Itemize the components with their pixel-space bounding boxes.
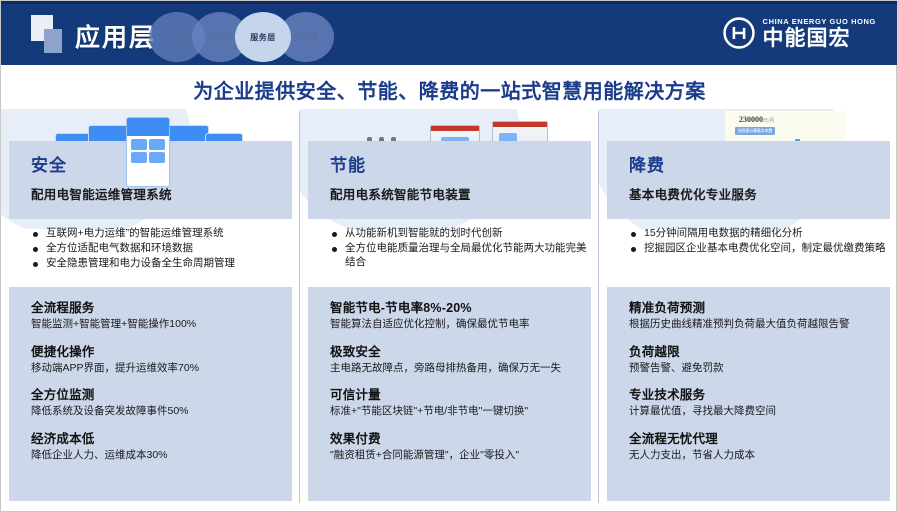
- feature-title: 负荷越限: [629, 341, 878, 360]
- column-header-band: 降费 基本电费优化专业服务: [607, 141, 890, 219]
- layer-ellipse-service-active[interactable]: 服务层: [235, 12, 291, 62]
- feature-desc: 智能算法自适应优化控制，确保最优节电率: [330, 318, 579, 332]
- feature-desc: 降低企业人力、运维成本30%: [31, 449, 280, 463]
- presentation-slide: 应用层 采集层 分析层 服务层 交易层 CHINA ENERGY GUO HO: [0, 0, 897, 512]
- list-item: 安全隐患管理和电力设备全生命周期管理: [33, 257, 292, 271]
- list-item: 15分钟间隔用电数据的精细化分析: [631, 227, 890, 241]
- feature-title: 全流程无忧代理: [629, 428, 878, 447]
- feature-item: 经济成本低 降低企业人力、运维成本30%: [31, 428, 280, 463]
- feature-desc: 标准+"节能区块链"+节电/非节电"一键切换": [330, 405, 579, 419]
- feature-desc: 无人力支出，节省人力成本: [629, 449, 878, 463]
- column-bullet-list: 15分钟间隔用电数据的精细化分析 挖掘园区企业基本电费优化空间，制定最优缴费策略: [607, 227, 890, 257]
- feature-item: 精准负荷预测 根据历史曲线精准预判负荷最大值负荷越限告警: [629, 297, 878, 332]
- column-feature-block: 精准负荷预测 根据历史曲线精准预判负荷最大值负荷越限告警 负荷越限 预警告警、避…: [607, 287, 890, 501]
- pk-top-badge: 按容量计算基本电费: [735, 127, 775, 135]
- company-mark-icon: [722, 16, 756, 50]
- feature-item: 全方位监测 降低系统及设备突发故障事件50%: [31, 384, 280, 419]
- feature-title: 可信计量: [330, 384, 579, 403]
- list-item: 挖掘园区企业基本电费优化空间，制定最优缴费策略: [631, 242, 890, 256]
- column-subtitle: 配用电系统智能节电装置: [330, 184, 591, 203]
- pk-top-value: 230000: [739, 115, 763, 124]
- feature-item: 可信计量 标准+"节能区块链"+节电/非节电"一键切换": [330, 384, 579, 419]
- feature-title: 全流程服务: [31, 297, 280, 316]
- feature-desc: 移动端APP界面，提升运维效率70%: [31, 362, 280, 376]
- feature-title: 效果付费: [330, 428, 579, 447]
- column-header-band: 节能 配用电系统智能节电装置: [308, 141, 591, 219]
- feature-title: 专业技术服务: [629, 384, 878, 403]
- company-logo: CHINA ENERGY GUO HONG 中能国宏: [722, 14, 876, 52]
- feature-desc: 预警告警、避免罚款: [629, 362, 878, 376]
- list-item: 全方位电能质量治理与全局最优化节能两大功能完美结合: [332, 242, 591, 270]
- column-bullet-list: 互联网+电力运维”的智能运维管理系统 全方位适配电气数据和环境数据 安全隐患管理…: [9, 227, 292, 272]
- column-energy-saving: 节能 配用电系统智能节电装置 从功能新机到智能就的划时代创新 全方位电能质量治理…: [300, 109, 599, 509]
- decorative-squares-icon: [31, 15, 67, 55]
- layer-label: 交易层: [293, 32, 319, 43]
- column-title: 降费: [629, 151, 890, 176]
- brand-chinese-name: 中能国宏: [763, 28, 876, 49]
- slide-header: 应用层 采集层 分析层 服务层 交易层 CHINA ENERGY GUO HO: [1, 1, 897, 65]
- column-cost-reduction: 230000元/月 按容量计算基本电费 PK 70000元/月 160000元/…: [599, 109, 897, 509]
- column-security: 安全 配用电智能运维管理系统 互联网+电力运维”的智能运维管理系统 全方位适配电…: [1, 109, 300, 509]
- feature-item: 智能节电-节电率8%-20% 智能算法自适应优化控制，确保最优节电率: [330, 297, 579, 332]
- column-feature-block: 智能节电-节电率8%-20% 智能算法自适应优化控制，确保最优节电率 极致安全 …: [308, 287, 591, 501]
- feature-title: 智能节电-节电率8%-20%: [330, 297, 579, 316]
- feature-item: 效果付费 "融资租赁+合同能源管理"，企业"零投入": [330, 428, 579, 463]
- pk-top-unit: 元/月: [763, 119, 774, 124]
- list-item: 全方位适配电气数据和环境数据: [33, 242, 292, 256]
- header-accent-line: [1, 1, 897, 4]
- feature-item: 便捷化操作 移动端APP界面，提升运维效率70%: [31, 341, 280, 376]
- layer-label: 分析层: [207, 32, 233, 43]
- feature-item: 专业技术服务 计算最优值，寻找最大降费空间: [629, 384, 878, 419]
- feature-desc: "融资租赁+合同能源管理"，企业"零投入": [330, 449, 579, 463]
- feature-title: 极致安全: [330, 341, 579, 360]
- list-item: 互联网+电力运维”的智能运维管理系统: [33, 227, 292, 241]
- column-title: 节能: [330, 151, 591, 176]
- layer-ellipse-group: 采集层 分析层 服务层 交易层: [149, 12, 329, 62]
- feature-desc: 降低系统及设备突发故障事件50%: [31, 405, 280, 419]
- feature-item: 全流程服务 智能监测+智能管理+智能操作100%: [31, 297, 280, 332]
- solution-columns: 安全 配用电智能运维管理系统 互联网+电力运维”的智能运维管理系统 全方位适配电…: [1, 109, 897, 509]
- feature-item: 极致安全 主电路无故障点，旁路母排热备用，确保万无一失: [330, 341, 579, 376]
- column-feature-block: 全流程服务 智能监测+智能管理+智能操作100% 便捷化操作 移动端APP界面，…: [9, 287, 292, 501]
- page-title: 应用层: [75, 18, 156, 54]
- brand-english-name: CHINA ENERGY GUO HONG: [763, 17, 876, 26]
- feature-desc: 根据历史曲线精准预判负荷最大值负荷越限告警: [629, 318, 878, 332]
- feature-desc: 计算最优值，寻找最大降费空间: [629, 405, 878, 419]
- feature-desc: 主电路无故障点，旁路母排热备用，确保万无一失: [330, 362, 579, 376]
- feature-title: 精准负荷预测: [629, 297, 878, 316]
- feature-title: 经济成本低: [31, 428, 280, 447]
- feature-item: 负荷越限 预警告警、避免罚款: [629, 341, 878, 376]
- layer-label: 采集层: [164, 32, 190, 43]
- column-subtitle: 基本电费优化专业服务: [629, 184, 890, 203]
- column-bullet-list: 从功能新机到智能就的划时代创新 全方位电能质量治理与全局最优化节能两大功能完美结…: [308, 227, 591, 271]
- feature-desc: 智能监测+智能管理+智能操作100%: [31, 318, 280, 332]
- slide-main-title: 为企业提供安全、节能、降费的一站式智慧用能解决方案: [1, 75, 897, 104]
- list-item: 从功能新机到智能就的划时代创新: [332, 227, 591, 241]
- feature-title: 便捷化操作: [31, 341, 280, 360]
- feature-title: 全方位监测: [31, 384, 280, 403]
- feature-item: 全流程无忧代理 无人力支出，节省人力成本: [629, 428, 878, 463]
- layer-label: 服务层: [250, 32, 276, 43]
